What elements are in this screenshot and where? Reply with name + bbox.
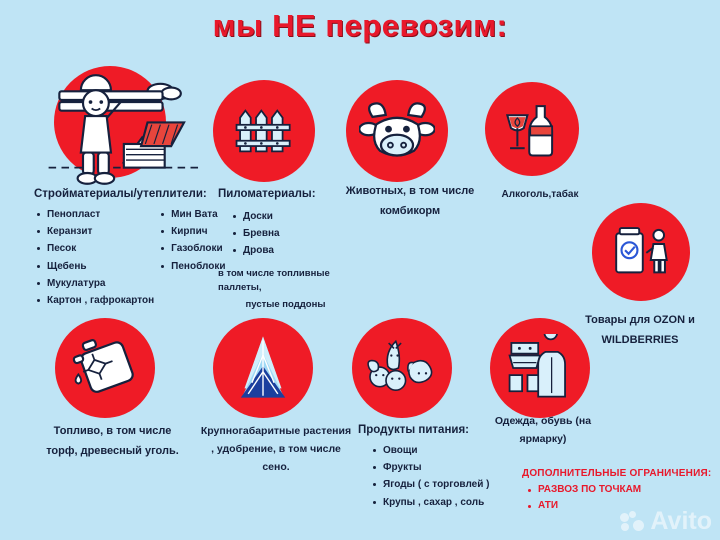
list-item: Щебень bbox=[34, 258, 154, 275]
fuel-line2: торф, древесный уголь. bbox=[20, 444, 205, 459]
animals-line1: Животных, в том числе bbox=[330, 184, 490, 199]
parcel-box-icon bbox=[592, 203, 690, 301]
poster-canvas: мы НЕ перевозим: bbox=[0, 0, 720, 540]
restrictions-heading: ДОПОЛНИТЕЛЬНЫЕ ОГРАНИЧЕНИЯ: bbox=[522, 468, 712, 479]
section-animals: Животных, в том числе комбикорм bbox=[330, 184, 490, 219]
builder-with-planks-icon bbox=[54, 66, 166, 178]
list-item: Песок bbox=[34, 240, 154, 257]
list-item: Керанзит bbox=[34, 223, 154, 240]
avito-watermark: Avito bbox=[620, 509, 712, 534]
list-item: Газоблоки bbox=[158, 240, 225, 257]
list-item: Картон , гафрокартон bbox=[34, 292, 154, 309]
list-item: Бревна bbox=[230, 225, 353, 242]
plants-line1: Крупногабаритные растения bbox=[186, 424, 366, 438]
building-materials-heading: Стройматериалы/утеплители: bbox=[34, 188, 229, 200]
avito-wordmark: Avito bbox=[650, 509, 712, 534]
fir-tree-icon bbox=[213, 318, 313, 418]
list-item: Мукулатура bbox=[34, 275, 154, 292]
additional-restrictions: ДОПОЛНИТЕЛЬНЫЕ ОГРАНИЧЕНИЯ: РАЗВОЗ ПО ТО… bbox=[522, 468, 712, 511]
marketplace-line1: Товары для OZON и bbox=[560, 313, 720, 328]
food-list: Овощи Фрукты Ягоды ( с торговлей ) Крупы… bbox=[370, 442, 508, 511]
section-clothing: Одежда, обувь (на ярмарку) bbox=[478, 414, 608, 446]
clothing-line1: Одежда, обувь (на bbox=[478, 414, 608, 428]
avito-dots-logo bbox=[620, 511, 646, 533]
clothes-icon bbox=[490, 318, 590, 418]
building-materials-list-right: Мин Вата Кирпич Газоблоки Пеноблоки bbox=[158, 206, 225, 309]
plants-line3: сено. bbox=[186, 460, 366, 474]
list-item: Кирпич bbox=[158, 223, 225, 240]
clothing-line2: ярмарку) bbox=[478, 432, 608, 446]
list-item: Мин Вата bbox=[158, 206, 225, 223]
section-marketplace: Товары для OZON и WILDBERRIES bbox=[560, 313, 720, 348]
list-item: Фрукты bbox=[370, 459, 508, 476]
icon-building-materials bbox=[36, 62, 216, 182]
section-building-materials: Стройматериалы/утеплители: Пенопласт Кер… bbox=[34, 188, 229, 309]
animals-line2: комбикорм bbox=[330, 204, 490, 219]
jerrycan-icon bbox=[55, 318, 155, 418]
lumber-note-line2: пустые поддоны bbox=[218, 298, 353, 312]
fuel-line1: Топливо, в том числе bbox=[20, 424, 205, 439]
cow-head-icon bbox=[346, 80, 448, 182]
list-item: Дрова bbox=[230, 242, 353, 259]
list-item: Ягоды ( с торговлей ) bbox=[370, 476, 508, 493]
vegetables-icon bbox=[352, 318, 452, 418]
picket-fence-icon bbox=[213, 80, 315, 182]
bottle-and-glass-icon bbox=[485, 82, 579, 176]
list-item: Пенопласт bbox=[34, 206, 154, 223]
page-title: мы НЕ перевозим: bbox=[0, 8, 720, 44]
list-item: Пеноблоки bbox=[158, 258, 225, 275]
section-plants: Крупногабаритные растения , удобрение, в… bbox=[186, 424, 366, 475]
section-fuel: Топливо, в том числе торф, древесный уго… bbox=[20, 424, 205, 459]
building-materials-list-left: Пенопласт Керанзит Песок Щебень Мукулату… bbox=[34, 206, 154, 309]
list-item: Крупы , сахар , соль bbox=[370, 494, 508, 511]
list-item: РАЗВОЗ ПО ТОЧКАМ bbox=[522, 484, 712, 495]
alcohol-caption: Алкоголь,табак bbox=[470, 188, 610, 202]
lumber-note-line1: в том числе топливные паллеты, bbox=[218, 267, 353, 296]
plants-line2: , удобрение, в том числе bbox=[186, 442, 366, 456]
